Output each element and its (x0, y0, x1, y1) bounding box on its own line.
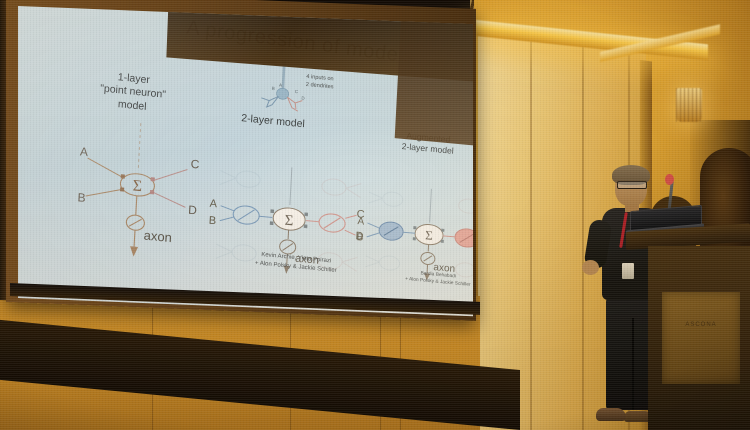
presenter-leg-gap (632, 318, 634, 410)
glasses-icon (617, 181, 647, 189)
svg-text:C: C (295, 89, 298, 94)
svg-text:D: D (301, 96, 304, 101)
wall-sconce-light (676, 88, 702, 122)
svg-text:Σ: Σ (425, 227, 433, 243)
label-line: 2-layer model (241, 112, 305, 130)
column-label-two-layer: 2-layer model (218, 110, 329, 134)
presenter-badge (622, 263, 634, 279)
axon-label: axon (143, 228, 172, 246)
svg-text:Σ: Σ (284, 213, 294, 230)
microphone-head (665, 174, 674, 185)
lectern-body: ASCONA (648, 246, 750, 430)
credit-line: + Alon Polsky & Jackie Schiller (405, 277, 471, 288)
lectern-logo-text: ASCONA (673, 320, 729, 331)
input-label-A: A (80, 144, 89, 159)
label-line: 1-layer (117, 71, 150, 86)
slide-annotation: 4 inputs on 2 dendrites (306, 74, 334, 92)
svg-text:Σ: Σ (132, 177, 142, 195)
screen-corner-mask (395, 9, 473, 149)
input-label-D: D (188, 203, 198, 218)
input-label-A: A (357, 216, 365, 228)
input-label-B: B (356, 232, 364, 244)
input-label-C: C (190, 157, 200, 172)
label-line: model (118, 98, 147, 113)
column-label-one-layer: 1-layer "point neuron" model (77, 67, 189, 118)
input-label-B: B (208, 215, 216, 228)
svg-text:A: A (279, 82, 282, 87)
annotation-line-2: 2 dendrites (306, 81, 334, 90)
presenter-hand-left (582, 260, 599, 275)
input-label-B: B (77, 190, 86, 205)
conference-photo-scene: A progression of models B A C D (0, 0, 750, 430)
projection-screen: A progression of models B A C D (18, 6, 473, 316)
lectern-sign: ASCONA (662, 292, 740, 384)
lectern: ASCONA (648, 232, 750, 430)
presenter-shoe-left (596, 408, 626, 421)
diagram-one-layer-point-neuron: Σ A B C D (60, 116, 212, 269)
input-label-A: A (209, 198, 218, 211)
svg-text:B: B (272, 86, 275, 91)
